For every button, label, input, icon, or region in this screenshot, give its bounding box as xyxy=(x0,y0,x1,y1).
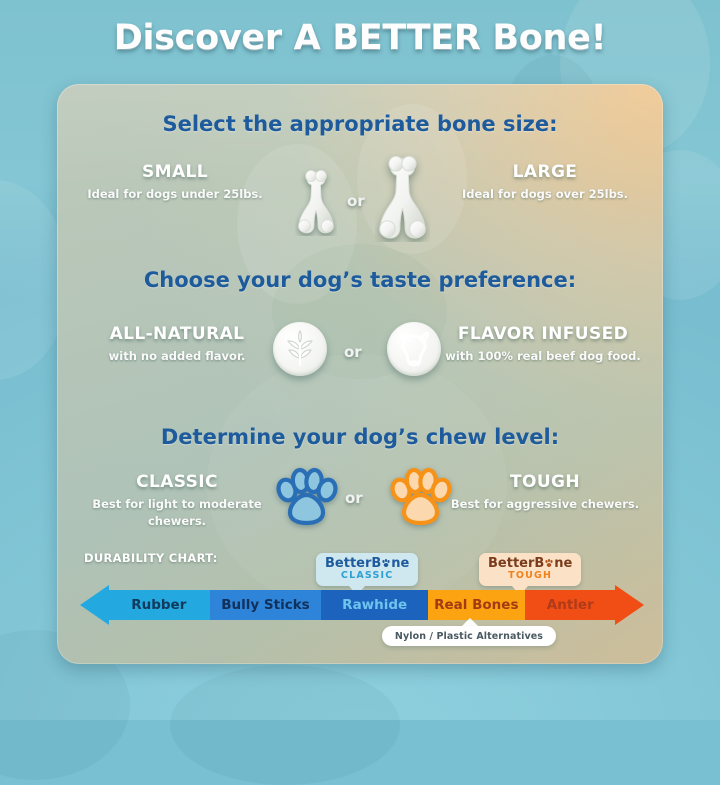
paw-glyph-icon xyxy=(544,558,554,568)
option-flavor-infused: FLAVOR INFUSED with 100% real beef dog f… xyxy=(443,324,643,365)
option-tough-title: TOUGH xyxy=(447,472,643,492)
paw-glyph-icon xyxy=(381,558,391,568)
or-label-size: or xyxy=(347,192,365,210)
option-classic-desc: Best for light to moderate chewers. xyxy=(79,496,275,529)
option-all-natural: ALL-NATURAL with no added flavor. xyxy=(77,324,277,365)
option-small: SMALL Ideal for dogs under 25lbs. xyxy=(85,162,265,203)
cow-head-icon xyxy=(387,322,441,376)
leaf-icon-circle xyxy=(273,322,327,376)
badge-betterbone-tough: BetterBne TOUGH xyxy=(479,553,581,586)
durability-chart-label: DURABILITY CHART: xyxy=(84,551,218,565)
badge-tough-brand: BetterBne xyxy=(488,557,572,571)
durability-bar: RubberBully SticksRawhideReal BonesAntle… xyxy=(80,590,644,620)
durability-arrow-right xyxy=(615,585,644,625)
badge-classic-brand: BetterBne xyxy=(325,557,409,571)
section-heading-taste: Choose your dog’s taste preference: xyxy=(57,268,663,292)
or-label-chew: or xyxy=(345,489,363,507)
badge-classic-sub: CLASSIC xyxy=(325,571,409,581)
badge-tough-sub: TOUGH xyxy=(488,571,572,581)
option-classic-title: CLASSIC xyxy=(79,472,275,492)
durability-segment-antler: Antler xyxy=(525,590,616,620)
badge-classic-brand-start: BetterB xyxy=(325,556,381,571)
durability-segment-real-bones: Real Bones xyxy=(428,590,525,620)
orange-paw-icon xyxy=(387,467,453,529)
option-all-natural-desc: with no added flavor. xyxy=(77,348,277,365)
option-large: LARGE Ideal for dogs over 25lbs. xyxy=(455,162,635,203)
page-title: Discover A BETTER Bone! xyxy=(0,18,720,58)
section-heading-chew-level: Determine your dog’s chew level: xyxy=(57,425,663,449)
or-label-taste: or xyxy=(344,343,362,361)
durability-arrow-left xyxy=(80,585,109,625)
nylon-callout-text: Nylon / Plastic Alternatives xyxy=(395,631,543,642)
durability-segment-rubber: Rubber xyxy=(108,590,210,620)
large-bone-icon xyxy=(375,148,430,242)
badge-tough-brand-start: BetterB xyxy=(488,556,544,571)
durability-segments: RubberBully SticksRawhideReal BonesAntle… xyxy=(108,590,616,620)
option-classic: CLASSIC Best for light to moderate chewe… xyxy=(79,472,275,529)
option-flavor-infused-desc: with 100% real beef dog food. xyxy=(443,348,643,365)
option-large-desc: Ideal for dogs over 25lbs. xyxy=(455,186,635,203)
badge-classic-brand-end: ne xyxy=(391,556,409,571)
option-large-title: LARGE xyxy=(455,162,635,182)
section-heading-bone-size: Select the appropriate bone size: xyxy=(57,112,663,136)
badge-betterbone-classic: BetterBne CLASSIC xyxy=(316,553,418,586)
option-tough-desc: Best for aggressive chewers. xyxy=(447,496,643,513)
cow-head-icon-circle xyxy=(387,322,441,376)
option-flavor-infused-title: FLAVOR INFUSED xyxy=(443,324,643,344)
option-small-desc: Ideal for dogs under 25lbs. xyxy=(85,186,265,203)
option-small-title: SMALL xyxy=(85,162,265,182)
background-paw-blob xyxy=(170,665,400,785)
small-bone-icon xyxy=(295,164,337,236)
durability-segment-rawhide: Rawhide xyxy=(321,590,428,620)
durability-segment-bully-sticks: Bully Sticks xyxy=(210,590,322,620)
option-all-natural-title: ALL-NATURAL xyxy=(77,324,277,344)
option-tough: TOUGH Best for aggressive chewers. xyxy=(447,472,643,513)
badge-tough-brand-end: ne xyxy=(554,556,572,571)
blue-paw-icon xyxy=(273,467,339,529)
leaf-icon xyxy=(273,322,327,376)
nylon-callout: Nylon / Plastic Alternatives xyxy=(382,626,556,646)
